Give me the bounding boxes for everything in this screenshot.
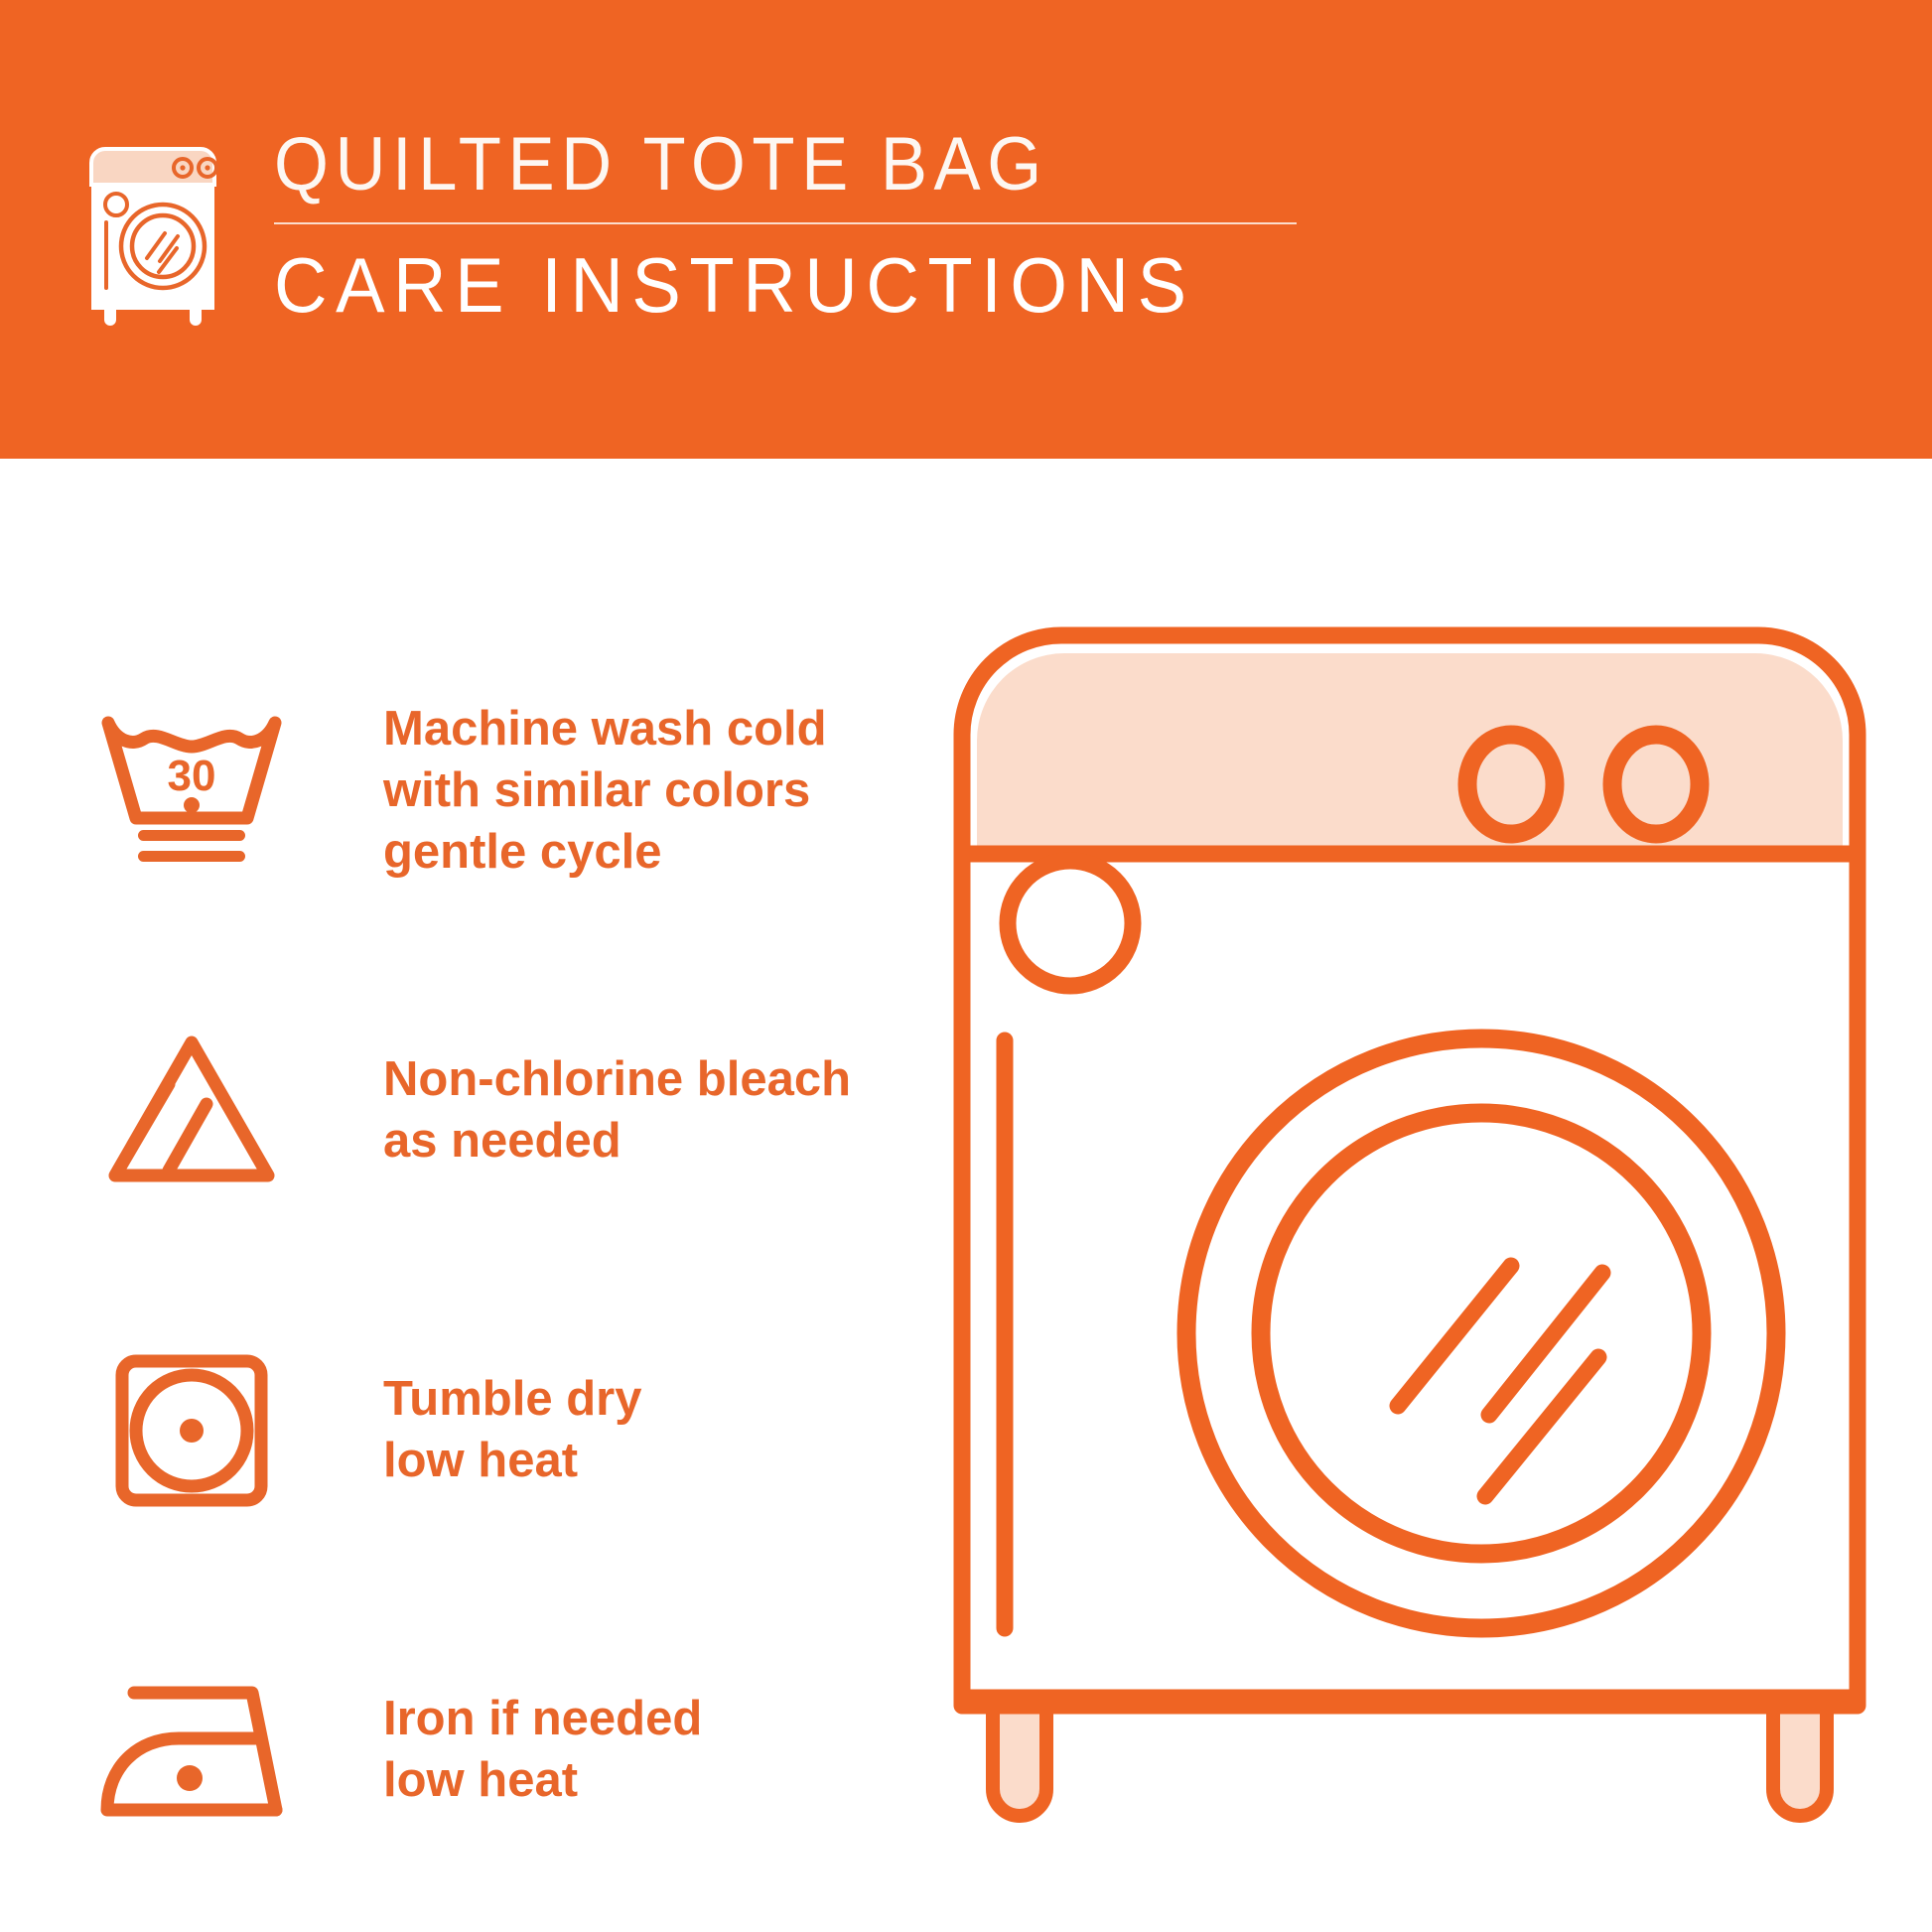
care-line: with similar colors [383, 760, 827, 822]
care-item-iron: Iron if needed low heat [87, 1626, 901, 1874]
care-line: low heat [383, 1431, 641, 1492]
care-line: Tumble dry [383, 1369, 641, 1431]
page-title: QUILTED TOTE BAG [274, 127, 1225, 218]
washing-machine-icon [77, 139, 236, 328]
bleach-icon-slot [87, 1027, 296, 1195]
title-divider [274, 222, 1297, 224]
care-item-tumble-dry: Tumble dry low heat [87, 1307, 901, 1555]
care-line: Iron if needed [383, 1689, 702, 1750]
care-line: Machine wash cold [383, 699, 827, 760]
tumble-dry-icon-slot [87, 1346, 296, 1515]
care-item-bleach: Non-chlorine bleach as needed [87, 987, 901, 1235]
care-line: Non-chlorine bleach [383, 1049, 851, 1111]
iron-icon-slot [87, 1671, 296, 1830]
tumble-dry-dot [180, 1419, 204, 1443]
knob[interactable] [1612, 735, 1700, 834]
knob[interactable] [1467, 735, 1555, 834]
leg [993, 1706, 1046, 1816]
control-panel [977, 653, 1843, 852]
leg [1773, 1706, 1827, 1816]
header-title-group: QUILTED TOTE BAG CARE INSTRUCTIONS [274, 127, 1297, 324]
page-subtitle: CARE INSTRUCTIONS [274, 236, 1246, 324]
care-text-wash: Machine wash cold with similar colors ge… [383, 699, 827, 883]
header-banner: QUILTED TOTE BAG CARE INSTRUCTIONS [0, 0, 1932, 459]
care-text-tumble-dry: Tumble dry low heat [383, 1369, 641, 1491]
tumble-dry-low-heat-icon [107, 1346, 276, 1515]
care-item-wash: 30 Machine wash cold with similar colors… [87, 667, 901, 915]
care-line: low heat [383, 1750, 702, 1812]
gentle-bar-2 [138, 851, 245, 862]
wash-dot [184, 797, 200, 813]
iron-dot [177, 1765, 203, 1791]
care-text-bleach: Non-chlorine bleach as needed [383, 1049, 851, 1172]
wash-temperature-label: 30 [168, 752, 216, 800]
header-content: QUILTED TOTE BAG CARE INSTRUCTIONS [77, 127, 1297, 328]
non-chlorine-bleach-triangle-icon [97, 1027, 286, 1195]
iron-low-heat-icon [87, 1671, 296, 1830]
wash-tub-30-gentle-icon: 30 [92, 707, 291, 876]
wash-icon-slot: 30 [87, 707, 296, 876]
care-text-iron: Iron if needed low heat [383, 1689, 702, 1811]
care-line: gentle cycle [383, 822, 827, 884]
large-washing-machine-illustration [953, 625, 1866, 1866]
gentle-bar-1 [138, 830, 245, 841]
care-line: as needed [383, 1111, 851, 1173]
care-instruction-list: 30 Machine wash cold with similar colors… [87, 667, 901, 1874]
